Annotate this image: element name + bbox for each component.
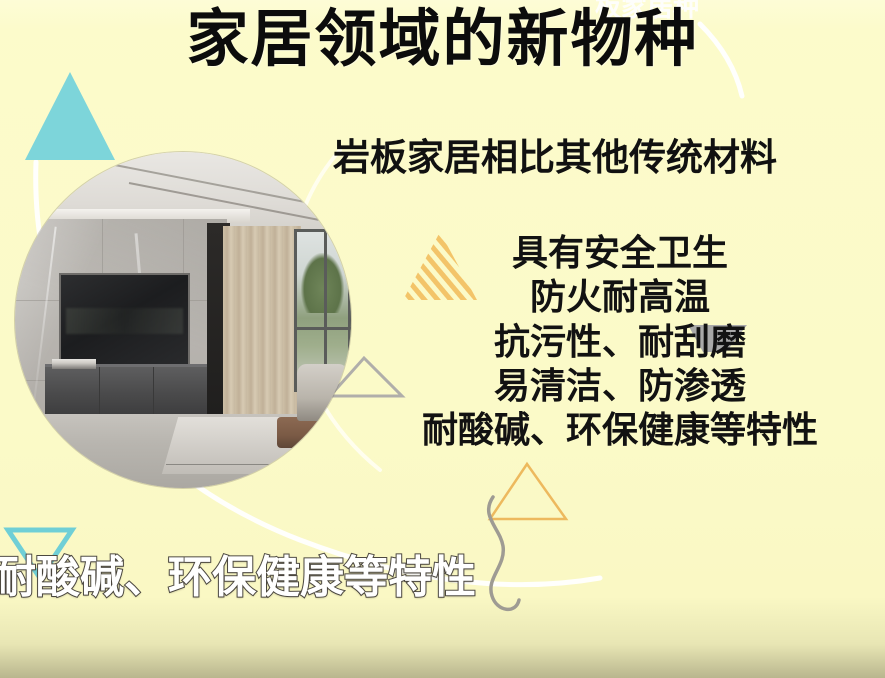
slide-canvas: 板家居种 bbox=[0, 0, 885, 678]
feature-line: 耐酸碱、环保健康等特性 bbox=[355, 409, 885, 453]
cabinet-seam-2 bbox=[153, 367, 154, 414]
feature-line: 防火耐高温 bbox=[355, 276, 885, 320]
window-rail-top bbox=[294, 229, 351, 232]
window-mullion-1 bbox=[294, 229, 297, 390]
feature-list: 具有安全卫生 防火耐高温 抗污性、耐刮磨 易清洁、防渗透 耐酸碱、环保健康等特性 bbox=[355, 232, 885, 453]
floor-tile-seam bbox=[166, 464, 300, 465]
outdoor-tree bbox=[301, 253, 345, 313]
books-on-cabinet bbox=[52, 359, 96, 370]
lead-text: 岩板家居相比其他传统材料 bbox=[333, 137, 885, 178]
video-caption: 耐酸碱、环保健康等特性 bbox=[0, 556, 612, 600]
window-curtain bbox=[223, 226, 300, 421]
tv-screen-reflection bbox=[66, 308, 183, 334]
tv-cabinet bbox=[45, 367, 206, 414]
armchair bbox=[297, 364, 347, 421]
cabinet-seam-1 bbox=[99, 367, 100, 414]
window-rail-mid bbox=[294, 327, 351, 330]
television bbox=[59, 273, 191, 371]
feature-line: 易清洁、防渗透 bbox=[355, 365, 885, 409]
leather-ottoman bbox=[277, 417, 351, 447]
feature-line: 抗污性、耐刮磨 bbox=[355, 321, 885, 365]
room-photo-image bbox=[15, 152, 351, 488]
feature-line: 具有安全卫生 bbox=[355, 232, 885, 276]
page-title: 家居领域的新物种 bbox=[0, 8, 885, 70]
window-mullion-3 bbox=[348, 229, 351, 390]
room-photo-circle bbox=[15, 152, 351, 488]
